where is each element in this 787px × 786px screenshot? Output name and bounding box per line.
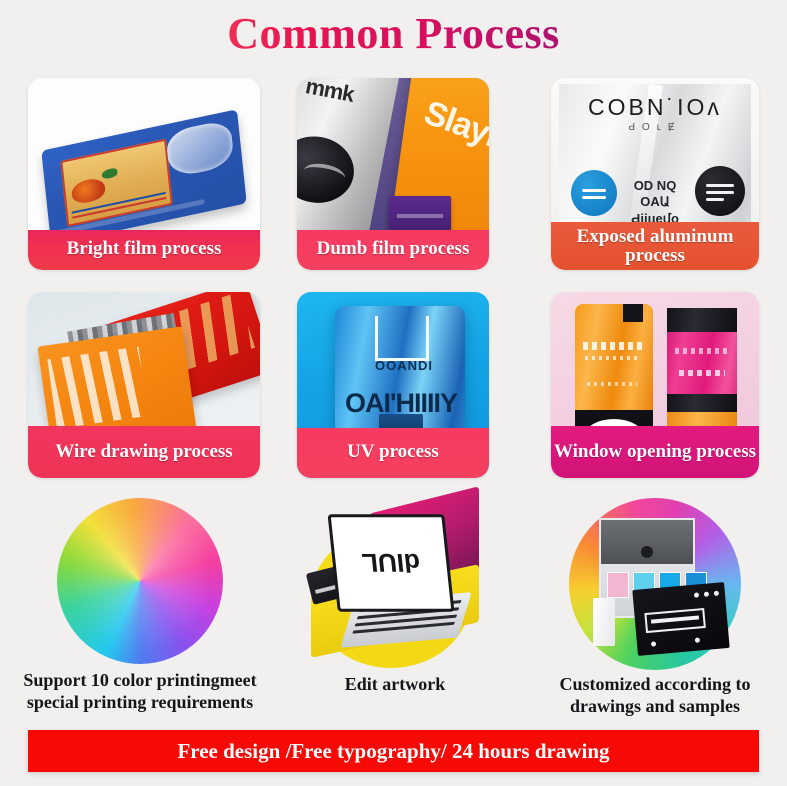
black-box-sample — [632, 582, 729, 656]
white-tube-sample — [593, 598, 615, 646]
process-card-window-opening[interactable]: Window opening process — [551, 292, 759, 478]
badge-line — [706, 198, 724, 201]
card-caption-dumb-film: Dumb film process — [297, 230, 489, 270]
feature-color-printing[interactable]: Support 10 color printingmeet special pr… — [10, 498, 270, 710]
laptop-scene: dIUL — [295, 498, 495, 668]
tube-black-corner — [623, 304, 643, 322]
color-wheel-icon — [57, 498, 223, 664]
card-caption-window-opening: Window opening process — [551, 426, 759, 478]
laptop-screen-text: dIUL — [334, 547, 448, 578]
black-badge-circle — [695, 166, 745, 216]
blue-pouch-illustration — [41, 109, 247, 245]
cosmetics-samples-illustration — [577, 512, 737, 662]
aluminum-subtitle-text: ԀOʟɆ — [551, 122, 759, 133]
process-card-dumb-film[interactable]: mmk Slayb Dumb film process — [297, 78, 489, 270]
feature-line-1: Edit artwork — [295, 674, 495, 696]
feature-caption-color-printing: Support 10 color printingmeet special pr… — [10, 670, 270, 713]
card-caption-exposed-aluminum: Exposed aluminum process — [551, 222, 759, 270]
tube-text-line-2 — [585, 356, 639, 360]
feature-line-2: special printing requirements — [10, 692, 270, 714]
feature-line-1: Support 10 color printingmeet — [10, 670, 270, 692]
page-title: Common Process — [0, 8, 787, 59]
leaf-shape — [101, 167, 118, 179]
pan-swatch — [607, 572, 629, 598]
feature-edit-artwork[interactable]: dIUL Edit artwork — [295, 498, 495, 710]
process-card-wire-drawing[interactable]: Wire drawing process — [28, 292, 260, 478]
feature-customized[interactable]: Customized according to drawings and sam… — [528, 498, 782, 710]
cylinder-text-line-1 — [675, 348, 729, 354]
cylinder-text-line-2 — [679, 370, 725, 376]
pouch-window — [165, 119, 234, 179]
box-dot — [651, 641, 656, 646]
aluminum-center-line-1: OD NQ OAԱ — [623, 178, 687, 211]
process-card-exposed-aluminum[interactable]: COBN˙IOʌ ԀOʟɆ OD NQ OAԱ Ԁiiцеմo Exposed … — [551, 78, 759, 270]
board-logo-dot — [641, 546, 653, 558]
badge-line — [706, 191, 734, 194]
feature-line-2: drawings and samples — [528, 696, 782, 718]
card-caption-bright-film: Bright film process — [28, 230, 260, 270]
aluminum-center-text: OD NQ OAԱ Ԁiiцеմo — [623, 178, 687, 227]
feature-caption-customized: Customized according to drawings and sam… — [528, 674, 782, 717]
process-card-uv[interactable]: OOANDI OAI'HIIIIY UV process — [297, 292, 489, 478]
tube-text-line-3 — [587, 382, 637, 386]
tube-square-outline — [375, 316, 429, 361]
aluminum-brand-text: COBN˙IOʌ — [551, 94, 759, 121]
promo-banner-text: Free design /Free typography/ 24 hours d… — [177, 739, 609, 764]
box-dot — [695, 637, 700, 642]
card-caption-uv: UV process — [297, 428, 489, 478]
white-print-texture — [47, 347, 148, 429]
laptop-screen: dIUL — [328, 514, 455, 611]
dark-swirl-graphic — [297, 130, 360, 209]
orange-package-text: Slayb — [419, 94, 489, 160]
laptop-workspace-icon: dIUL — [295, 498, 495, 670]
box-brand-tag — [644, 608, 706, 633]
process-card-bright-film[interactable]: Bright film process — [28, 78, 260, 270]
feature-caption-edit-artwork: Edit artwork — [295, 674, 495, 696]
badge-line — [706, 184, 734, 187]
poster-canvas: Common Process Bright film process mmk — [0, 0, 787, 786]
promo-banner[interactable]: Free design /Free typography/ 24 hours d… — [28, 730, 759, 772]
card-caption-wire-drawing: Wire drawing process — [28, 426, 260, 478]
tube-text-line-1 — [583, 342, 645, 350]
tube-brand-text: OOANDI — [361, 358, 447, 373]
box-dot — [714, 591, 719, 596]
blue-badge-circle — [571, 170, 617, 216]
rainbow-circle-icon — [569, 498, 741, 670]
cylinder-top-band — [667, 308, 737, 332]
orange-tube — [575, 304, 653, 412]
box-dot — [694, 592, 699, 597]
box-dot — [704, 591, 709, 596]
cylinder-mid-band — [667, 394, 737, 412]
feature-line-1: Customized according to — [528, 674, 782, 696]
